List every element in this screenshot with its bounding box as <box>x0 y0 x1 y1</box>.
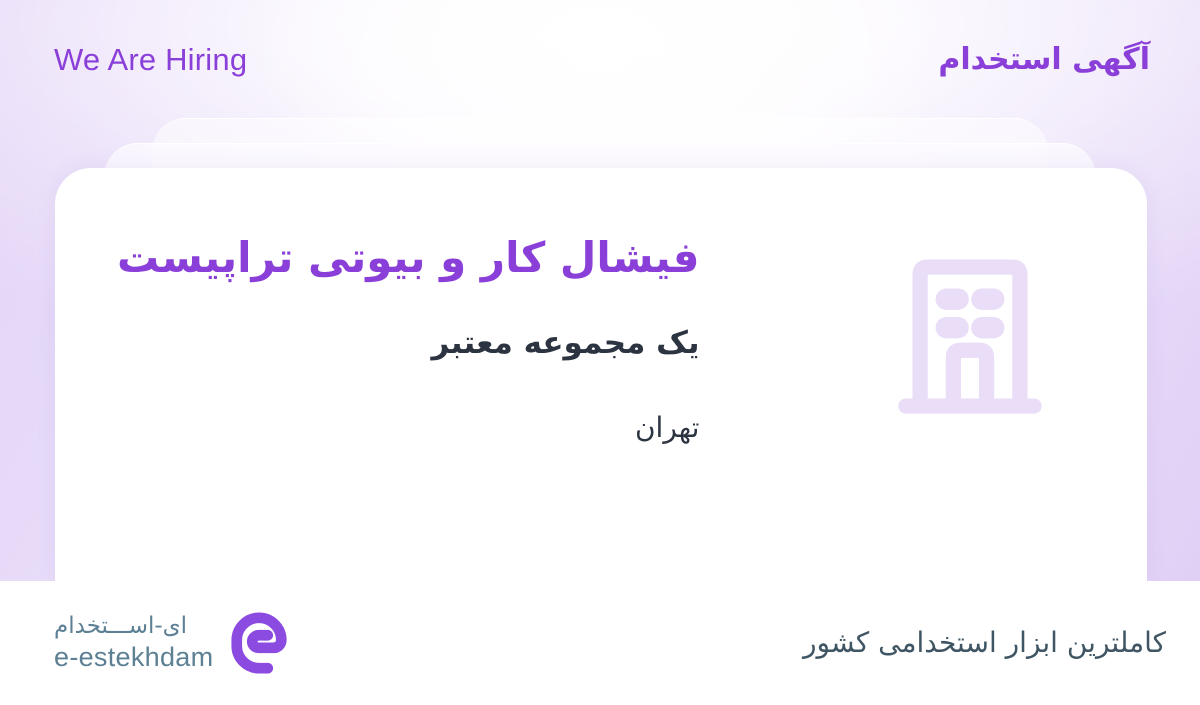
company-logo-placeholder <box>855 220 1085 420</box>
we-are-hiring-label: We Are Hiring <box>54 40 247 81</box>
job-location: تهران <box>117 409 699 447</box>
brand-name-farsi: ای-اســـتخدام <box>54 614 187 640</box>
job-details: فیشال کار و بیوتی تراپیست یک مجموعه معتب… <box>117 220 699 446</box>
footer-tagline: کاملترین ابزار استخدامی کشور <box>803 624 1166 662</box>
job-company-name: یک مجموعه معتبر <box>117 323 699 365</box>
job-title: فیشال کار و بیوتی تراپیست <box>117 230 699 287</box>
job-advertisement-poster: We Are Hiring آگهی استخدام فیشال کار و ب… <box>0 0 1200 705</box>
job-card[interactable]: فیشال کار و بیوتی تراپیست یک مجموعه معتب… <box>55 168 1147 581</box>
e-logo-icon <box>229 612 291 674</box>
job-card-body: فیشال کار و بیوتی تراپیست یک مجموعه معتب… <box>55 168 1147 581</box>
footer-bar: ای-اســـتخدام e-estekhdam کاملترین ابزار… <box>0 581 1200 705</box>
hero-section: We Are Hiring آگهی استخدام فیشال کار و ب… <box>0 0 1200 581</box>
brand-logo[interactable]: ای-اســـتخدام e-estekhdam <box>54 612 291 674</box>
job-advertisement-label: آگهی استخدام <box>938 40 1150 80</box>
brand-name-latin: e-estekhdam <box>54 642 213 672</box>
brand-wordmark: ای-اســـتخدام e-estekhdam <box>54 614 213 672</box>
building-icon <box>894 252 1046 420</box>
